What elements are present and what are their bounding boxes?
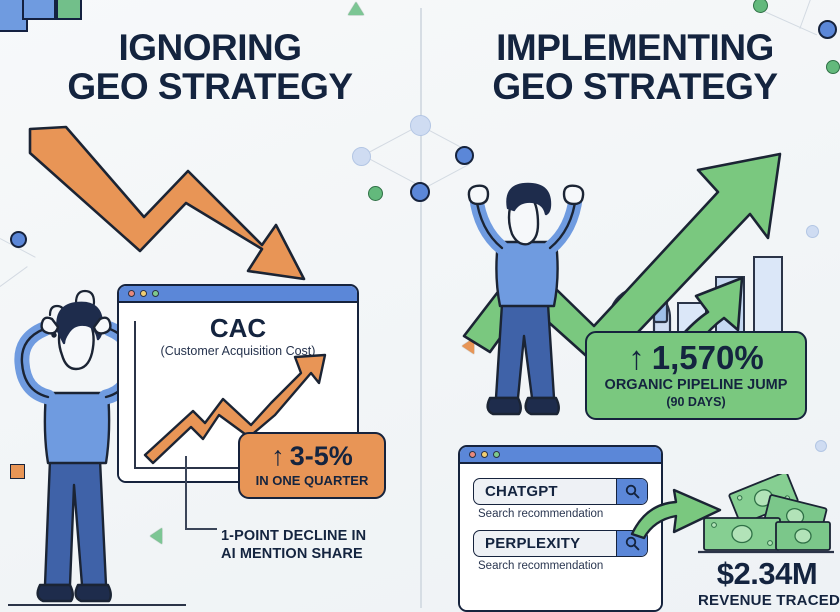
network-node bbox=[10, 231, 27, 248]
search-query-chatgpt[interactable]: CHATGPT bbox=[474, 479, 616, 504]
network-node bbox=[410, 115, 431, 136]
logo-block-green bbox=[56, 0, 82, 20]
up-arrow-icon: ↑ bbox=[628, 341, 645, 374]
window-maximize-dot[interactable] bbox=[152, 290, 159, 297]
search-browser-titlebar bbox=[460, 447, 661, 464]
up-arrow-icon: ↑ bbox=[271, 443, 285, 470]
network-node-green bbox=[368, 186, 383, 201]
decor-triangle-green bbox=[150, 528, 162, 544]
left-panel-title: IGNORING GEO STRATEGY bbox=[20, 28, 400, 106]
search-row-perplexity[interactable]: PERPLEXITY bbox=[473, 530, 648, 557]
ground-line-left bbox=[8, 604, 186, 606]
callout-line2: AI MENTION SHARE bbox=[221, 546, 406, 564]
right-panel-title: IMPLEMENTING GEO STRATEGY bbox=[440, 28, 830, 106]
infographic-root: IGNORING GEO STRATEGY bbox=[0, 0, 840, 612]
pipeline-badge-subcaption: (90 DAYS) bbox=[587, 396, 805, 410]
left-title-line1: IGNORING bbox=[20, 28, 400, 67]
logo-block-blue-2 bbox=[22, 0, 56, 20]
callout-line1: 1-POINT DECLINE IN bbox=[221, 528, 406, 546]
right-title-line2: GEO STRATEGY bbox=[440, 67, 830, 106]
cac-increase-badge: ↑ 3-5% IN ONE QUARTER bbox=[238, 432, 386, 499]
right-title-line1: IMPLEMENTING bbox=[440, 28, 830, 67]
center-divider bbox=[420, 8, 422, 608]
cac-badge-value-row: ↑ 3-5% bbox=[240, 443, 384, 470]
network-node bbox=[352, 147, 371, 166]
cac-browser-titlebar bbox=[119, 286, 357, 303]
network-node bbox=[815, 440, 827, 452]
revenue-label: REVENUE TRACED bbox=[694, 593, 840, 608]
celebrating-person-illustration bbox=[466, 176, 586, 426]
cac-badge-caption: IN ONE QUARTER bbox=[240, 474, 384, 488]
window-close-dot[interactable] bbox=[469, 451, 476, 458]
decor-triangle-green bbox=[348, 2, 364, 15]
search-row-chatgpt[interactable]: CHATGPT bbox=[473, 478, 648, 505]
cac-badge-value: 3-5% bbox=[290, 443, 353, 470]
window-minimize-dot[interactable] bbox=[481, 451, 488, 458]
organic-pipeline-badge: ↑ 1,570% ORGANIC PIPELINE JUMP (90 DAYS) bbox=[585, 331, 807, 420]
callout-connector-vertical bbox=[185, 456, 187, 530]
revenue-amount: $2.34M bbox=[694, 558, 840, 589]
pipeline-badge-caption: ORGANIC PIPELINE JUMP bbox=[587, 378, 805, 394]
window-close-dot[interactable] bbox=[128, 290, 135, 297]
network-line bbox=[799, 0, 816, 29]
network-node bbox=[806, 225, 819, 238]
window-minimize-dot[interactable] bbox=[140, 290, 147, 297]
search-recommendation-perplexity: Search recommendation bbox=[478, 560, 648, 572]
network-node bbox=[410, 182, 430, 202]
left-title-line2: GEO STRATEGY bbox=[20, 67, 400, 106]
callout-connector-horizontal bbox=[185, 528, 217, 530]
pipeline-badge-value-row: ↑ 1,570% bbox=[587, 341, 805, 374]
down-trend-arrow bbox=[26, 125, 346, 285]
search-query-perplexity[interactable]: PERPLEXITY bbox=[474, 531, 616, 556]
network-line bbox=[363, 155, 421, 187]
window-maximize-dot[interactable] bbox=[493, 451, 500, 458]
search-recommendation-chatgpt: Search recommendation bbox=[478, 508, 648, 520]
ai-mention-callout: 1-POINT DECLINE IN AI MENTION SHARE bbox=[221, 528, 406, 563]
pipeline-badge-value: 1,570% bbox=[652, 341, 764, 374]
cash-stack-icon bbox=[694, 474, 836, 558]
